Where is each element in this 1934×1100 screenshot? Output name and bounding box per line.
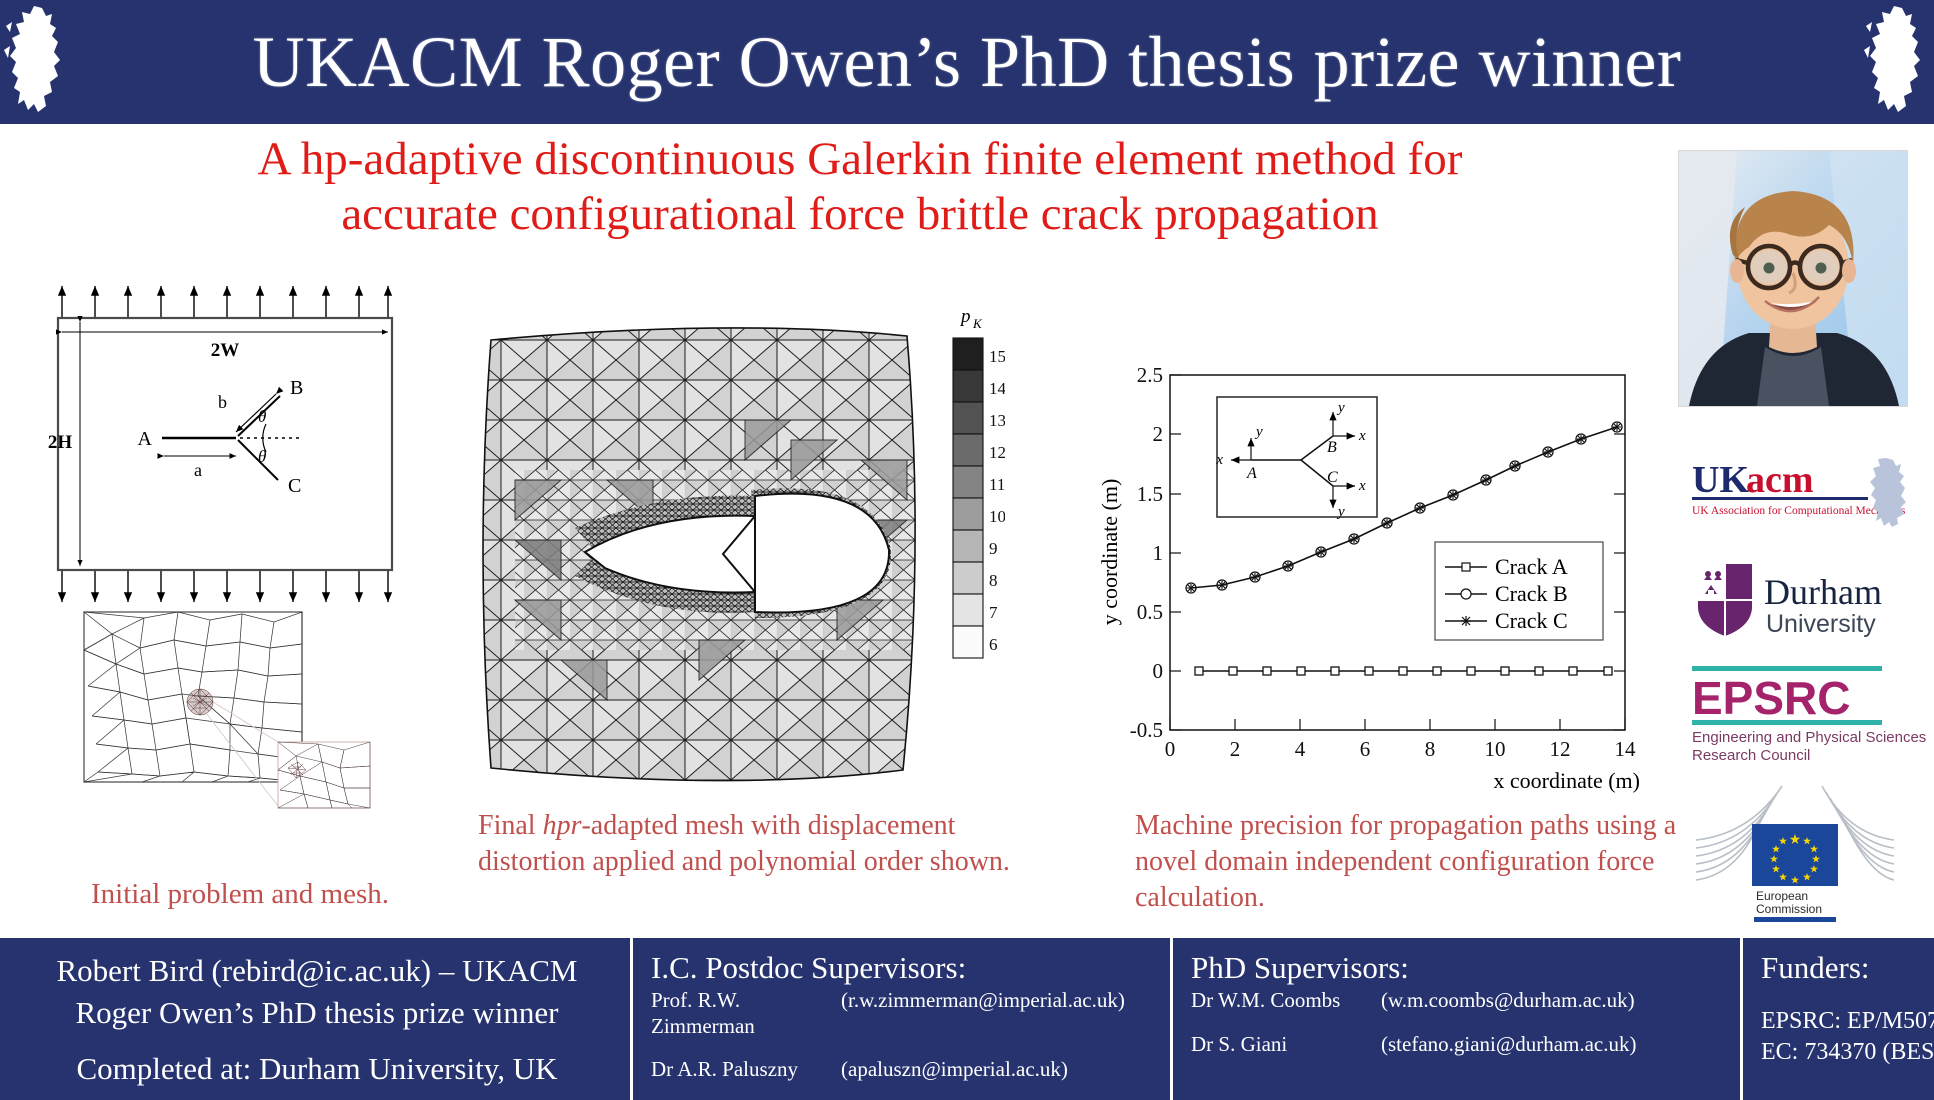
inset-label-a: A [1246,465,1257,482]
supervisor-row: Dr W.M. Coombs (w.m.coombs@durham.ac.uk) [1191,988,1726,1014]
epsrc-line-2: Research Council [1692,747,1810,764]
author-line-3: Completed at: Durham University, UK [18,1048,616,1090]
footer-bar: Robert Bird (rebird@ic.ac.uk) – UKACM Ro… [0,938,1934,1100]
phd-heading: PhD Supervisors: [1191,950,1726,986]
uk-map-icon [1864,4,1930,120]
poster-root: UKACM Roger Owen’s PhD thesis prize winn… [0,0,1934,1100]
label-branch-c: C [288,475,301,497]
label-len-a: a [194,460,202,480]
y-tick-label: -0.5 [1130,718,1163,742]
label-2h: 2H [48,432,73,453]
funder-grant-epsrc: EPSRC: EP/M507854/1 [1761,1006,1920,1037]
colorbar-tick: 10 [989,507,1005,526]
colorbar-label-subscript: K [972,316,983,331]
supervisor-name: Dr W.M. Coombs [1191,988,1381,1014]
colorbar-tick: 15 [989,347,1005,366]
ec-line-2: Commission [1756,902,1822,916]
colorbar-tick: 11 [989,475,1005,494]
ukacm-uk-text: UK [1692,459,1749,501]
author-photo [1678,150,1908,407]
ukacm-logo: UK acm UK Association for Computational … [1690,452,1926,532]
subtitle-line-1: A hp-adaptive discontinuous Galerkin fin… [60,132,1660,187]
figure-caption-2: Final hpr-adapted mesh with displacement… [478,808,1018,880]
chart-legend: Crack A Crack B Crack C [1435,542,1603,640]
initial-problem-sketch: 2W 2H A B b C θ θ a [40,280,410,610]
x-tick-label: 2 [1230,737,1241,761]
colorbar-tick: 13 [989,411,1005,430]
label-2w: 2W [211,340,240,361]
funder-grant-ec: EC: 734370 (BESTOFRAC) [1761,1037,1920,1068]
colorbar-tick: 9 [989,539,998,558]
label-theta-lower: θ [258,447,266,466]
colorbar-tick: 7 [989,603,998,622]
durham-sub: University [1766,610,1876,638]
label-theta-upper: θ [258,407,266,426]
x-tick-label: 6 [1360,737,1371,761]
inset-label-x: x [1215,452,1223,468]
funders-heading: Funders: [1761,950,1920,986]
supervisor-email[interactable]: (w.m.coombs@durham.ac.uk) [1381,988,1726,1014]
x-tick-label: 8 [1425,737,1436,761]
author-line-2: Roger Owen’s PhD thesis prize winner [18,992,616,1034]
inset-label-y: y [1254,424,1263,440]
y-tick-label: 1.5 [1137,482,1163,506]
final-hpr-adapted-mesh: p K 15 14 13 12 11 10 9 8 7 6 [455,300,1005,800]
colorbar-tick: 6 [989,635,998,654]
label-len-b: b [218,392,227,412]
postdoc-heading: I.C. Postdoc Supervisors: [651,950,1156,986]
supervisor-name: Dr S. Giani [1191,1032,1381,1058]
x-axis-label: x coordinate (m) [1493,768,1640,793]
inset-label-c: C [1327,469,1338,486]
x-tick-label: 10 [1485,737,1506,761]
inset-label-x: x [1358,428,1366,444]
supervisor-row: Dr S. Giani (stefano.giani@durham.ac.uk) [1191,1032,1726,1058]
supervisor-email[interactable]: (apaluszn@imperial.ac.uk) [841,1057,1156,1083]
x-tick-label: 4 [1295,737,1306,761]
figure-caption-3: Machine precision for propagation paths … [1135,808,1680,915]
footer-phd-supervisors: PhD Supervisors: Dr W.M. Coombs (w.m.coo… [1170,938,1740,1100]
epsrc-acronym: EPSRC [1692,672,1850,724]
colorbar-label: p [959,306,971,327]
supervisor-email[interactable]: (r.w.zimmerman@imperial.ac.uk) [841,988,1156,1039]
y-tick-label: 2.5 [1137,363,1163,387]
initial-triangular-mesh [82,610,372,825]
footer-author-block: Robert Bird (rebird@ic.ac.uk) – UKACM Ro… [0,938,630,1100]
legend-label-crack-b: Crack B [1495,581,1568,606]
legend-marker-star [1461,616,1471,626]
european-commission-logo: European Commission [1690,782,1900,922]
ec-line-1: European [1756,889,1808,903]
y-tick-label: 0.5 [1137,600,1163,624]
legend-label-crack-c: Crack C [1495,608,1568,633]
y-axis-label: y coordinate (m) [1097,479,1122,626]
supervisor-email[interactable]: (stefano.giani@durham.ac.uk) [1381,1032,1726,1058]
durham-university-logo: Durham University [1690,560,1926,646]
y-tick-label: 0 [1153,659,1164,683]
footer-funders: Funders: EPSRC: EP/M507854/1 EC: 734370 … [1740,938,1934,1100]
inset-label-b: B [1327,439,1337,456]
label-branch-b: B [290,377,303,399]
figure-caption-1: Initial problem and mesh. [30,878,450,911]
supervisor-name: Prof. R.W. Zimmerman [651,988,841,1039]
subtitle-line-2: accurate configurational force brittle c… [60,187,1660,242]
supervisor-name: Dr A.R. Paluszny [651,1057,841,1083]
colorbar-tick: 12 [989,443,1005,462]
inset-label-y: y [1336,400,1345,416]
x-tick-label: 14 [1615,737,1637,761]
x-tick-label: 0 [1165,737,1176,761]
y-tick-label: 2 [1153,422,1164,446]
label-branch-a: A [138,428,153,450]
header-banner: UKACM Roger Owen’s PhD thesis prize winn… [0,0,1934,124]
author-line-1: Robert Bird (rebird@ic.ac.uk) – UKACM [18,950,616,992]
durham-name: Durham [1764,572,1882,612]
footer-postdoc-supervisors: I.C. Postdoc Supervisors: Prof. R.W. Zim… [630,938,1170,1100]
inset-label-y: y [1336,504,1345,520]
page-title: UKACM Roger Owen’s PhD thesis prize winn… [0,0,1934,124]
y-tick-label: 1 [1153,541,1164,565]
crack-branch-coordinate-inset: y x A y x B y x C [1215,397,1377,520]
poster-subtitle: A hp-adaptive discontinuous Galerkin fin… [60,132,1660,243]
legend-marker-square [1462,563,1470,571]
caption2-pre: Final [478,810,543,841]
caption2-emphasis: hpr [543,810,582,841]
epsrc-line-1: Engineering and Physical Sciences [1692,729,1926,746]
durham-shield-icon [1698,564,1752,636]
x-tick-label: 12 [1550,737,1571,761]
ukacm-acm-text: acm [1746,459,1814,501]
crack-path-plot: -0.5 0 0.5 1 1.5 2 2.5 0 2 4 6 8 10 12 1… [1095,340,1655,800]
legend-label-crack-a: Crack A [1495,554,1568,579]
inset-label-x: x [1358,478,1366,494]
colorbar-tick: 14 [989,379,1005,398]
colorbar-tick: 8 [989,571,998,590]
epsrc-logo: EPSRC Engineering and Physical Sciences … [1690,662,1926,766]
supervisor-row: Dr A.R. Paluszny (apaluszn@imperial.ac.u… [651,1057,1156,1083]
supervisor-row: Prof. R.W. Zimmerman (r.w.zimmerman@impe… [651,988,1156,1039]
legend-marker-circle [1461,589,1471,599]
